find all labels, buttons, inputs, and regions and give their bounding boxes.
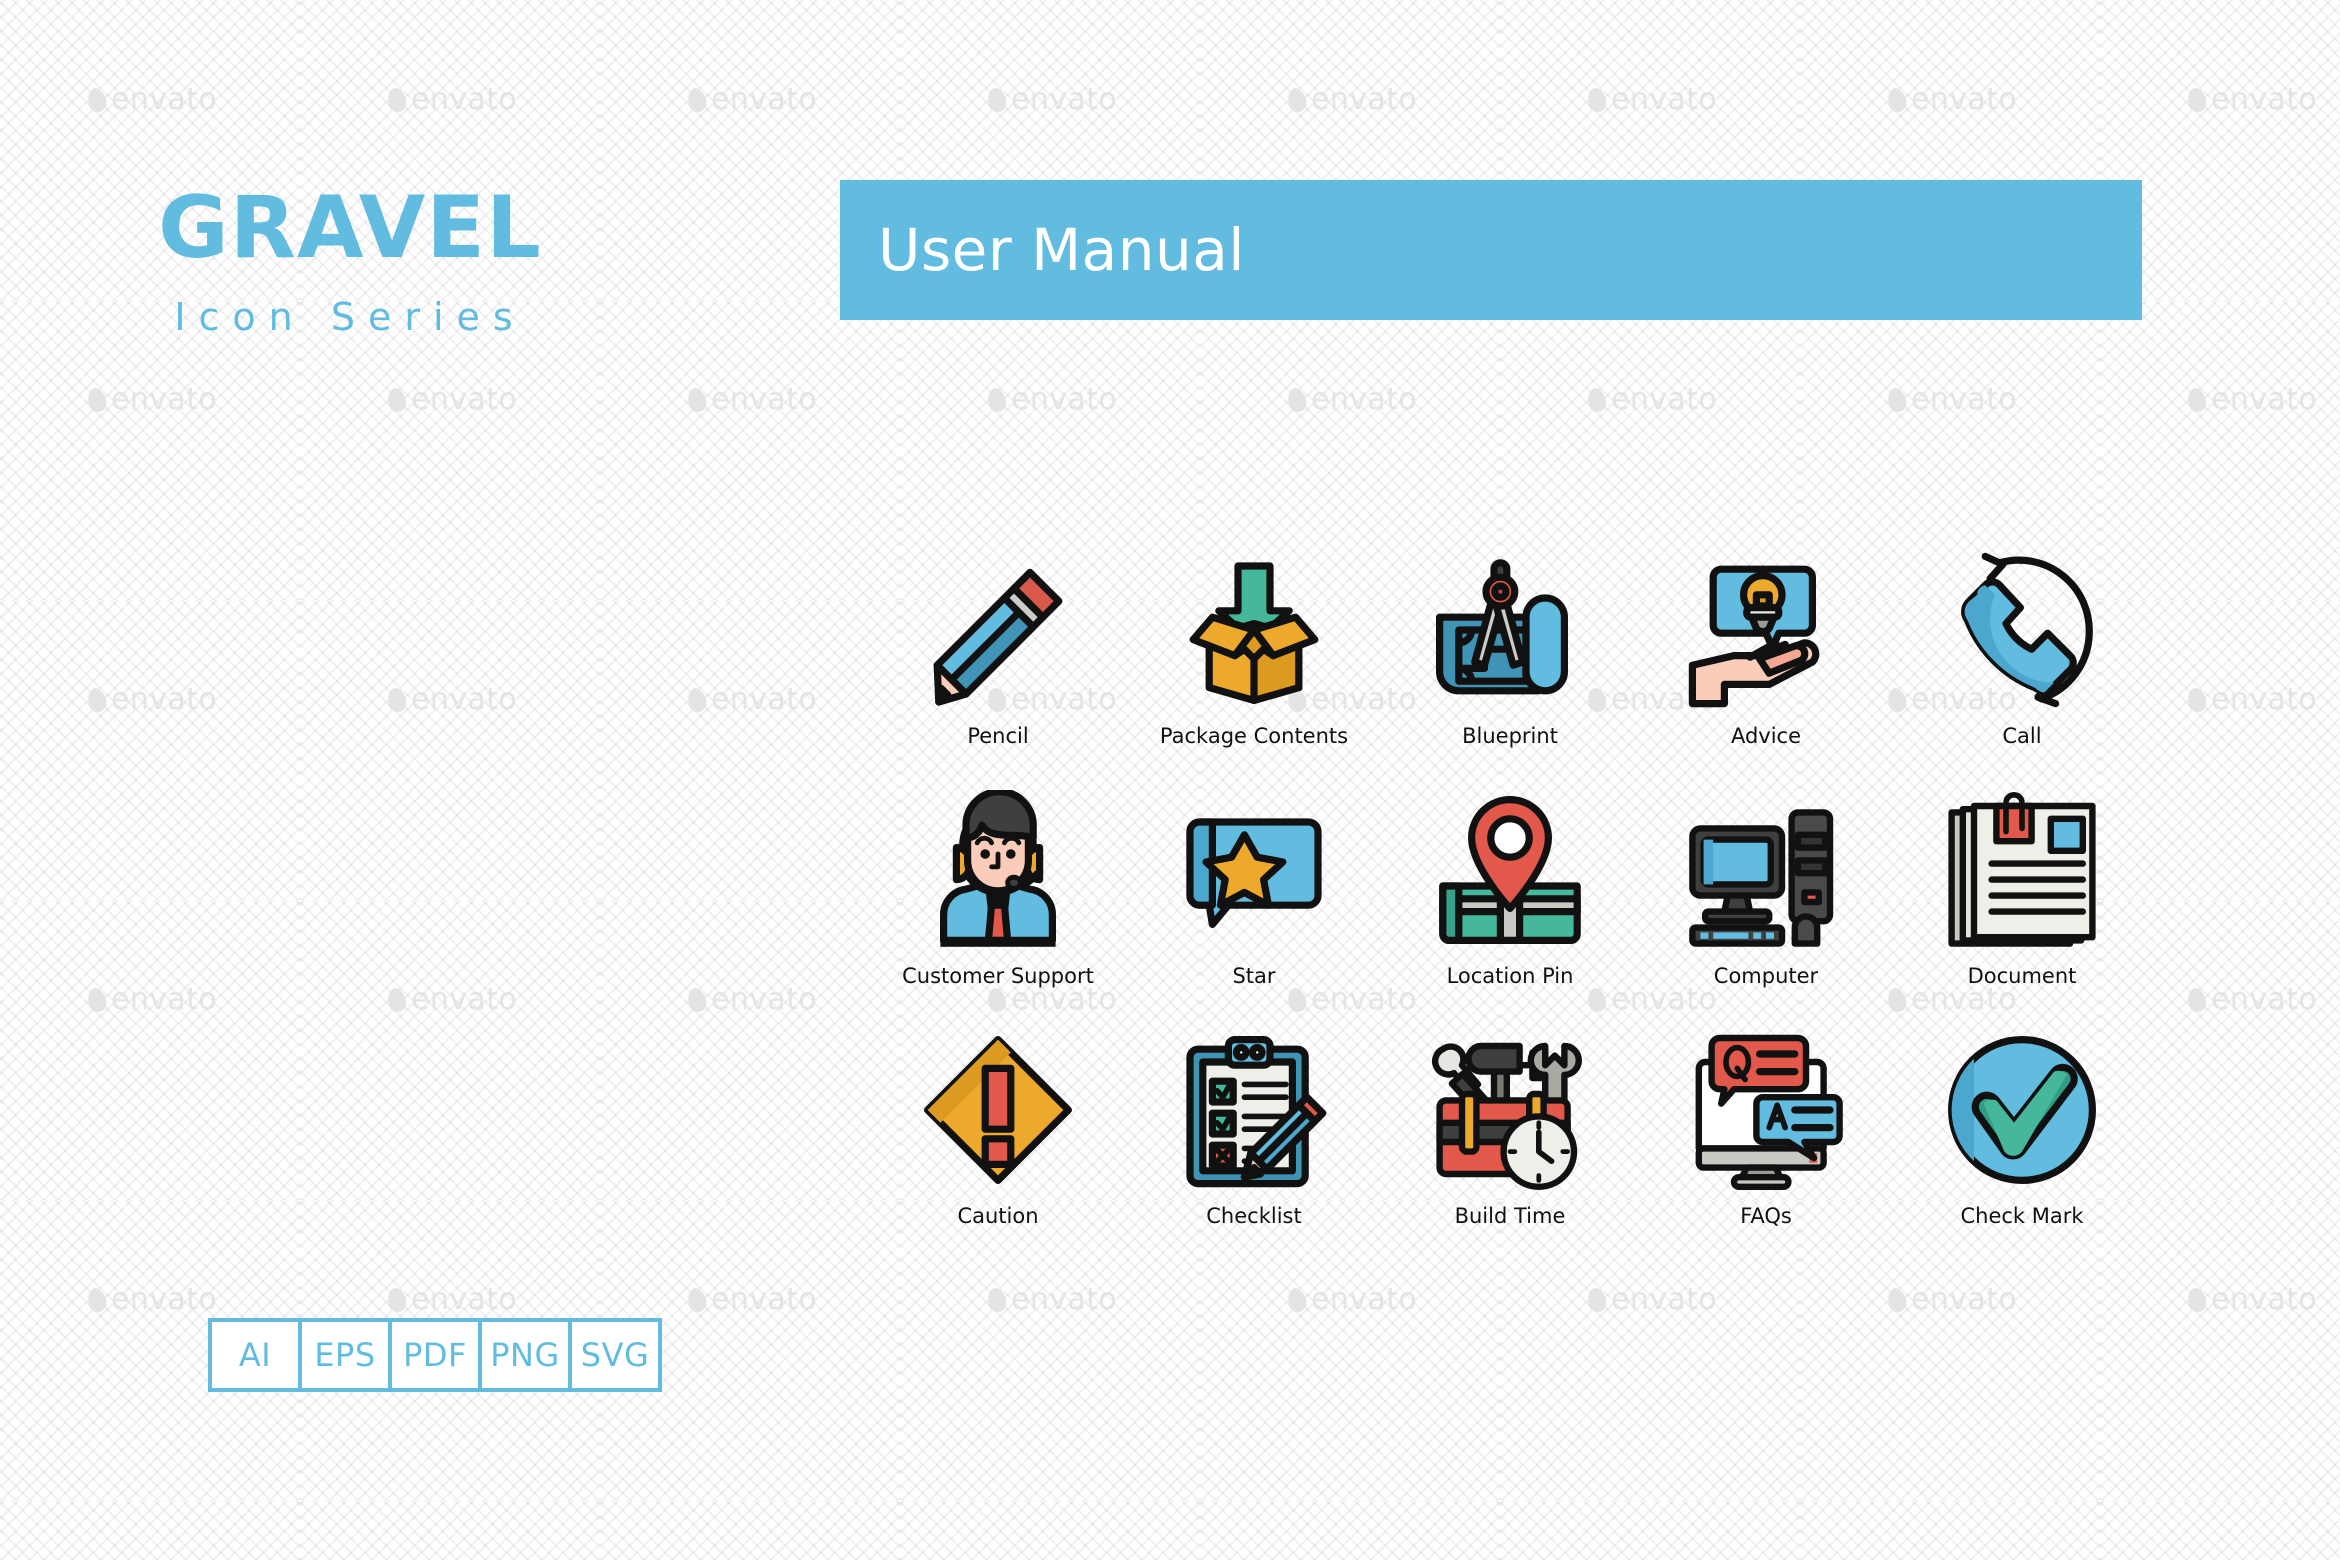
watermark-label: envato [1611, 1282, 1717, 1317]
icon-item-checklist[interactable]: Checklist [1126, 1020, 1382, 1260]
icon-label: Document [1968, 964, 2077, 988]
icon-item-check-mark[interactable]: Check Mark [1894, 1020, 2150, 1260]
page-title: User Manual [878, 216, 1245, 284]
icon-item-customer-support[interactable]: Customer Support [870, 780, 1126, 1020]
envato-egg-icon [1886, 86, 1909, 113]
watermark-text: envato [1588, 82, 1717, 117]
icon-item-blueprint[interactable]: Blueprint [1382, 540, 1638, 780]
format-badge-eps[interactable]: EPS [302, 1322, 388, 1388]
file-format-badges: AI EPS PDF PNG SVG [208, 1318, 662, 1392]
watermark-text: envato [1888, 382, 2017, 417]
blueprint-icon [1420, 540, 1600, 720]
icon-label: Pencil [967, 724, 1028, 748]
watermark-label: envato [2211, 1282, 2317, 1317]
watermark-label: envato [1611, 82, 1717, 117]
envato-egg-icon [1586, 86, 1609, 113]
pencil-icon [908, 540, 1088, 720]
watermark-label: envato [1611, 382, 1717, 417]
watermark-label: envato [2211, 382, 2317, 417]
icon-item-star[interactable]: Star [1126, 780, 1382, 1020]
watermark-text: envato [988, 1282, 1117, 1317]
icon-label: Package Contents [1160, 724, 1348, 748]
watermark-label: envato [1011, 82, 1117, 117]
icon-label: FAQs [1740, 1204, 1792, 1228]
watermark-label: envato [2211, 982, 2317, 1017]
star-icon [1164, 780, 1344, 960]
icon-label: Caution [957, 1204, 1038, 1228]
icon-label: Advice [1731, 724, 1801, 748]
watermark-text: envato [2188, 382, 2317, 417]
build-time-icon [1420, 1020, 1600, 1200]
icon-label: Call [2002, 724, 2041, 748]
envato-egg-icon [1586, 1286, 1609, 1313]
icon-grid: Pencil Package Contents [870, 540, 2150, 1260]
icon-label: Customer Support [902, 964, 1094, 988]
icon-label: Check Mark [1960, 1204, 2083, 1228]
envato-egg-icon [1586, 386, 1609, 413]
document-icon [1932, 780, 2112, 960]
brand-block: GRAVEL Icon Series [0, 185, 700, 339]
envato-egg-icon [1286, 386, 1309, 413]
watermark-text: envato [2188, 982, 2317, 1017]
brand-panel: GRAVEL Icon Series AI EPS PDF PNG SVG [0, 0, 840, 1560]
watermark-label: envato [2211, 82, 2317, 117]
watermark-label: envato [1911, 382, 2017, 417]
format-badge-png[interactable]: PNG [482, 1322, 568, 1388]
watermark-text: envato [1588, 382, 1717, 417]
icon-label: Checklist [1206, 1204, 1301, 1228]
envato-egg-icon [986, 1286, 1009, 1313]
watermark-text: envato [988, 82, 1117, 117]
watermark-text: envato [1288, 1282, 1417, 1317]
call-icon [1932, 540, 2112, 720]
icon-item-build-time[interactable]: Build Time [1382, 1020, 1638, 1260]
envato-egg-icon [2186, 686, 2209, 713]
advice-icon [1676, 540, 1856, 720]
watermark-text: envato [2188, 682, 2317, 717]
icon-item-document[interactable]: Document [1894, 780, 2150, 1020]
icon-item-call[interactable]: Call [1894, 540, 2150, 780]
format-badge-svg[interactable]: SVG [572, 1322, 658, 1388]
watermark-text: envato [1288, 82, 1417, 117]
caution-icon [908, 1020, 1088, 1200]
icon-item-faqs[interactable]: FAQs [1638, 1020, 1894, 1260]
watermark-label: envato [1911, 1282, 2017, 1317]
format-badge-pdf[interactable]: PDF [392, 1322, 478, 1388]
envato-egg-icon [2186, 386, 2209, 413]
icon-item-advice[interactable]: Advice [1638, 540, 1894, 780]
watermark-label: envato [1011, 382, 1117, 417]
watermark-text: envato [1288, 382, 1417, 417]
envato-egg-icon [2186, 1286, 2209, 1313]
envato-egg-icon [1886, 1286, 1909, 1313]
watermark-text: envato [988, 382, 1117, 417]
package-contents-icon [1164, 540, 1344, 720]
watermark-text: envato [1588, 1282, 1717, 1317]
envato-egg-icon [1286, 86, 1309, 113]
watermark-label: envato [1311, 82, 1417, 117]
watermark-text: envato [1888, 82, 2017, 117]
icon-label: Computer [1714, 964, 1818, 988]
watermark-label: envato [1011, 1282, 1117, 1317]
watermark-label: envato [1311, 382, 1417, 417]
envato-egg-icon [2186, 86, 2209, 113]
checklist-icon [1164, 1020, 1344, 1200]
watermark-label: envato [1311, 1282, 1417, 1317]
page-banner: User Manual [840, 180, 2142, 320]
icon-item-location-pin[interactable]: Location Pin [1382, 780, 1638, 1020]
envato-egg-icon [986, 386, 1009, 413]
brand-subtitle: Icon Series [0, 295, 700, 339]
location-pin-icon [1420, 780, 1600, 960]
customer-support-icon [908, 780, 1088, 960]
envato-egg-icon [2186, 986, 2209, 1013]
envato-egg-icon [986, 86, 1009, 113]
watermark-text: envato [1888, 1282, 2017, 1317]
icon-item-package-contents[interactable]: Package Contents [1126, 540, 1382, 780]
envato-egg-icon [1886, 386, 1909, 413]
icon-item-caution[interactable]: Caution [870, 1020, 1126, 1260]
icon-item-pencil[interactable]: Pencil [870, 540, 1126, 780]
watermark-text: envato [2188, 1282, 2317, 1317]
format-badge-ai[interactable]: AI [212, 1322, 298, 1388]
check-mark-icon [1932, 1020, 2112, 1200]
watermark-label: envato [2211, 682, 2317, 717]
computer-icon [1676, 780, 1856, 960]
icon-item-computer[interactable]: Computer [1638, 780, 1894, 1020]
watermark-text: envato [2188, 82, 2317, 117]
icon-label: Blueprint [1462, 724, 1558, 748]
icon-label: Star [1232, 964, 1275, 988]
envato-egg-icon [1286, 1286, 1309, 1313]
brand-title: GRAVEL [0, 185, 700, 271]
icon-label: Location Pin [1447, 964, 1574, 988]
faqs-icon [1676, 1020, 1856, 1200]
watermark-label: envato [1911, 82, 2017, 117]
icon-label: Build Time [1455, 1204, 1566, 1228]
